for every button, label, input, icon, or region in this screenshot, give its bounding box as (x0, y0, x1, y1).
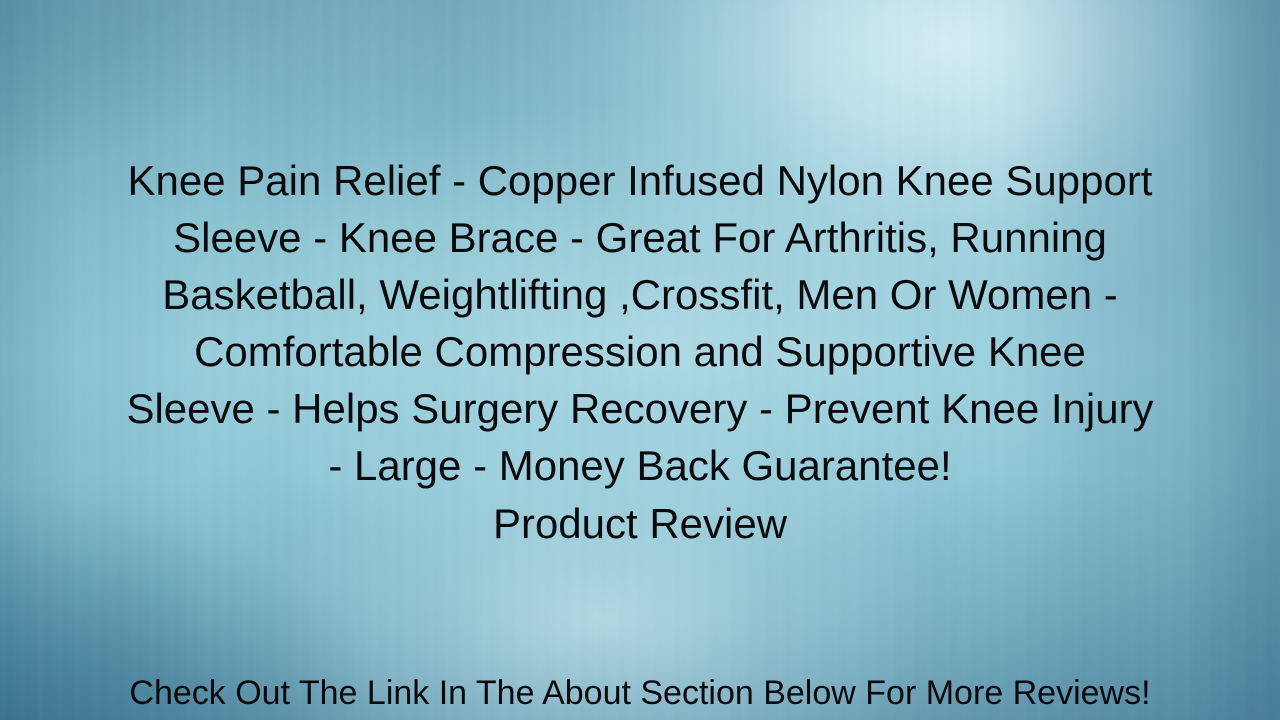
product-title-headline: Knee Pain Relief - Copper Infused Nylon … (0, 152, 1280, 494)
title-card-slide: Knee Pain Relief - Copper Infused Nylon … (0, 0, 1280, 720)
footer-call-to-action: Check Out The Link In The About Section … (0, 672, 1280, 714)
subtitle-product-review: Product Review (0, 495, 1280, 552)
slide-content: Knee Pain Relief - Copper Infused Nylon … (0, 0, 1280, 720)
